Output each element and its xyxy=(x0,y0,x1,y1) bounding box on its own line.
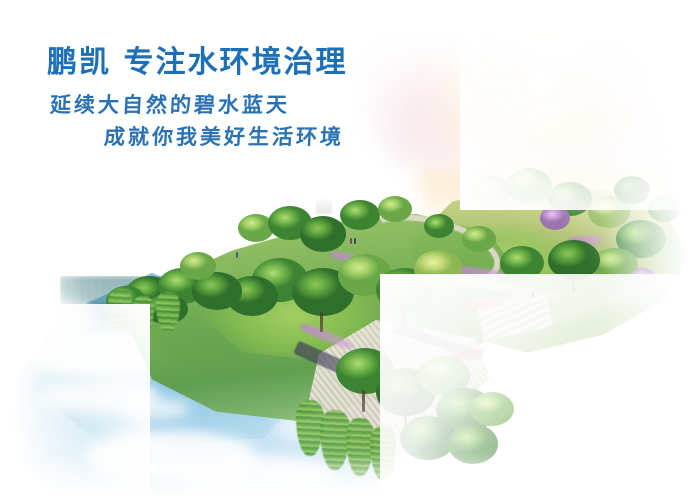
tree-canopy xyxy=(424,214,454,238)
tree-canopy xyxy=(614,176,650,204)
pedestrian xyxy=(434,301,436,307)
pedestrian xyxy=(350,238,352,244)
slogan-line-2: 成就你我美好生活环境 xyxy=(103,123,344,151)
tree-canopy xyxy=(378,196,412,222)
pedestrian xyxy=(532,292,534,298)
blossom-tree xyxy=(630,268,656,288)
tree-trunk xyxy=(572,276,575,292)
tree-canopy xyxy=(506,168,552,204)
tree-canopy xyxy=(470,176,510,208)
tree-canopy xyxy=(500,246,544,280)
pedestrian xyxy=(354,238,356,244)
sun-core-icon xyxy=(455,10,625,160)
headline: 鹏凯 专注水环境治理 xyxy=(47,44,347,82)
promotional-banner: 鹏凯 专注水环境治理 延续大自然的碧水蓝天 成就你我美好生活环境 xyxy=(0,0,700,504)
cloud-reflection xyxy=(120,398,190,420)
pedestrian xyxy=(236,252,238,258)
cloud-reflection xyxy=(186,456,336,502)
tree-canopy xyxy=(648,196,680,222)
park-sculpture xyxy=(316,196,332,214)
tree-trunk xyxy=(320,312,323,332)
pedestrian xyxy=(430,300,432,306)
tree-canopy xyxy=(340,200,380,230)
tree-canopy xyxy=(548,240,600,280)
tree-canopy xyxy=(180,252,216,280)
tree-canopy xyxy=(300,216,346,252)
tree-canopy xyxy=(470,392,514,426)
tree-canopy xyxy=(448,424,498,464)
tree-canopy xyxy=(414,250,462,288)
tree-trunk xyxy=(362,390,365,412)
tree-canopy xyxy=(462,226,496,252)
banner-copy: 鹏凯 专注水环境治理 延续大自然的碧水蓝天 成就你我美好生活环境 xyxy=(0,0,420,175)
tree-trunk xyxy=(402,308,405,326)
blossom-tree xyxy=(540,206,570,230)
tree-canopy xyxy=(400,416,456,460)
slogan-line-1: 延续大自然的碧水蓝天 xyxy=(49,91,290,119)
